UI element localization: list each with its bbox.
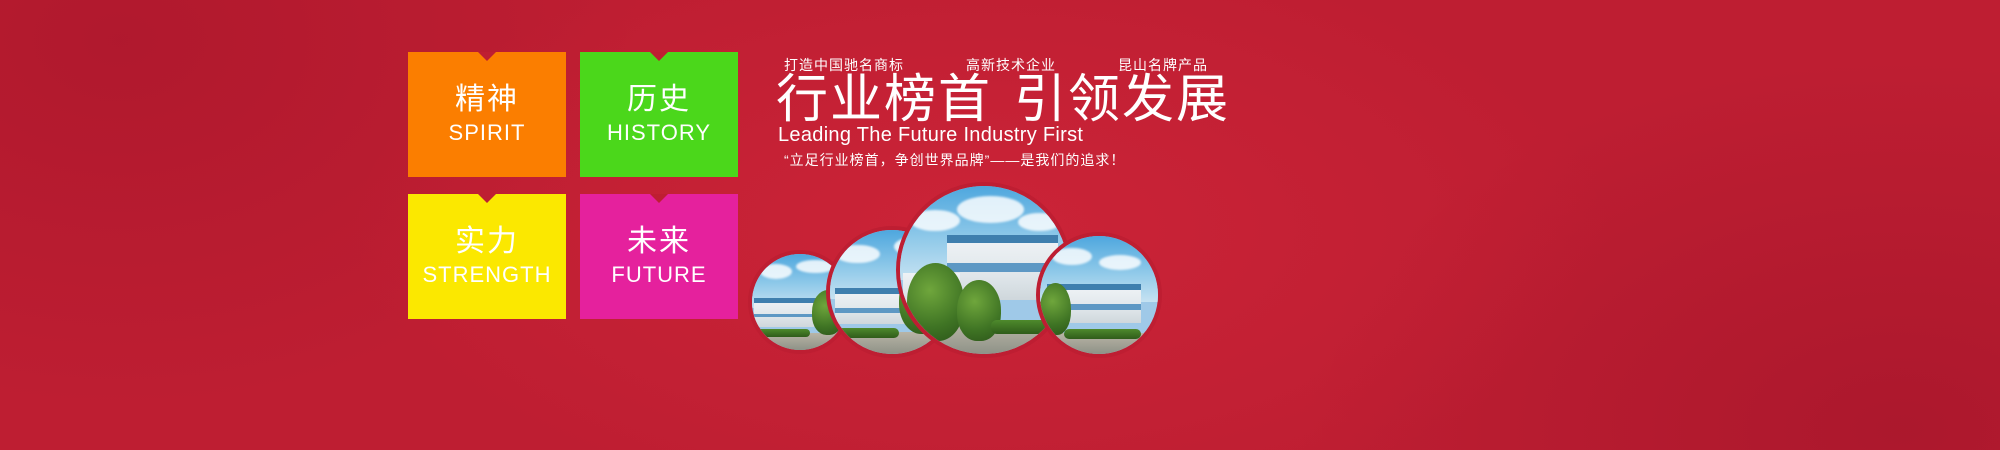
factory-photo-4-image <box>1040 236 1158 354</box>
tile-history[interactable]: 历史 HISTORY <box>580 52 738 177</box>
subtitle: Leading The Future Industry First <box>778 124 1083 147</box>
factory-photo-collage <box>748 188 1168 350</box>
tree <box>1040 283 1071 335</box>
hedge <box>832 328 899 338</box>
tile-notch-icon <box>478 52 496 61</box>
headline-part-2: 引领发展 <box>1014 71 1230 129</box>
tile-spirit-label-en: SPIRIT <box>449 122 526 144</box>
cloud-shape <box>760 264 793 279</box>
tile-spirit-label-cn: 精神 <box>455 85 519 115</box>
tile-notch-icon <box>650 194 668 203</box>
headline: 行业榜首引领发展 <box>776 74 1230 126</box>
cloud-shape <box>957 196 1024 223</box>
tile-history-label-en: HISTORY <box>607 122 711 144</box>
factory-photo-4 <box>1036 232 1162 358</box>
tile-strength-label-en: STRENGTH <box>423 264 552 286</box>
cloud-shape <box>835 245 880 264</box>
tile-history-label-cn: 历史 <box>627 85 691 115</box>
tile-notch-icon <box>650 52 668 61</box>
tile-strength[interactable]: 实力 STRENGTH <box>408 194 566 319</box>
tile-future-label-cn: 未来 <box>627 227 691 257</box>
tile-notch-icon <box>478 194 496 203</box>
hedge <box>1064 329 1142 338</box>
tagline-quote: “立足行业榜首，争创世界品牌”——是我们的追求！ <box>784 150 1125 170</box>
tile-future[interactable]: 未来 FUTURE <box>580 194 738 319</box>
tree <box>907 263 964 340</box>
hedge <box>752 329 810 337</box>
tile-spirit[interactable]: 精神 SPIRIT <box>408 52 566 177</box>
tile-strength-label-cn: 实力 <box>455 227 519 257</box>
headline-part-1: 行业榜首 <box>776 71 992 129</box>
tile-future-label-en: FUTURE <box>611 264 706 286</box>
promo-banner: 精神 SPIRIT 历史 HISTORY 实力 STRENGTH 未来 FUTU… <box>0 0 2000 450</box>
